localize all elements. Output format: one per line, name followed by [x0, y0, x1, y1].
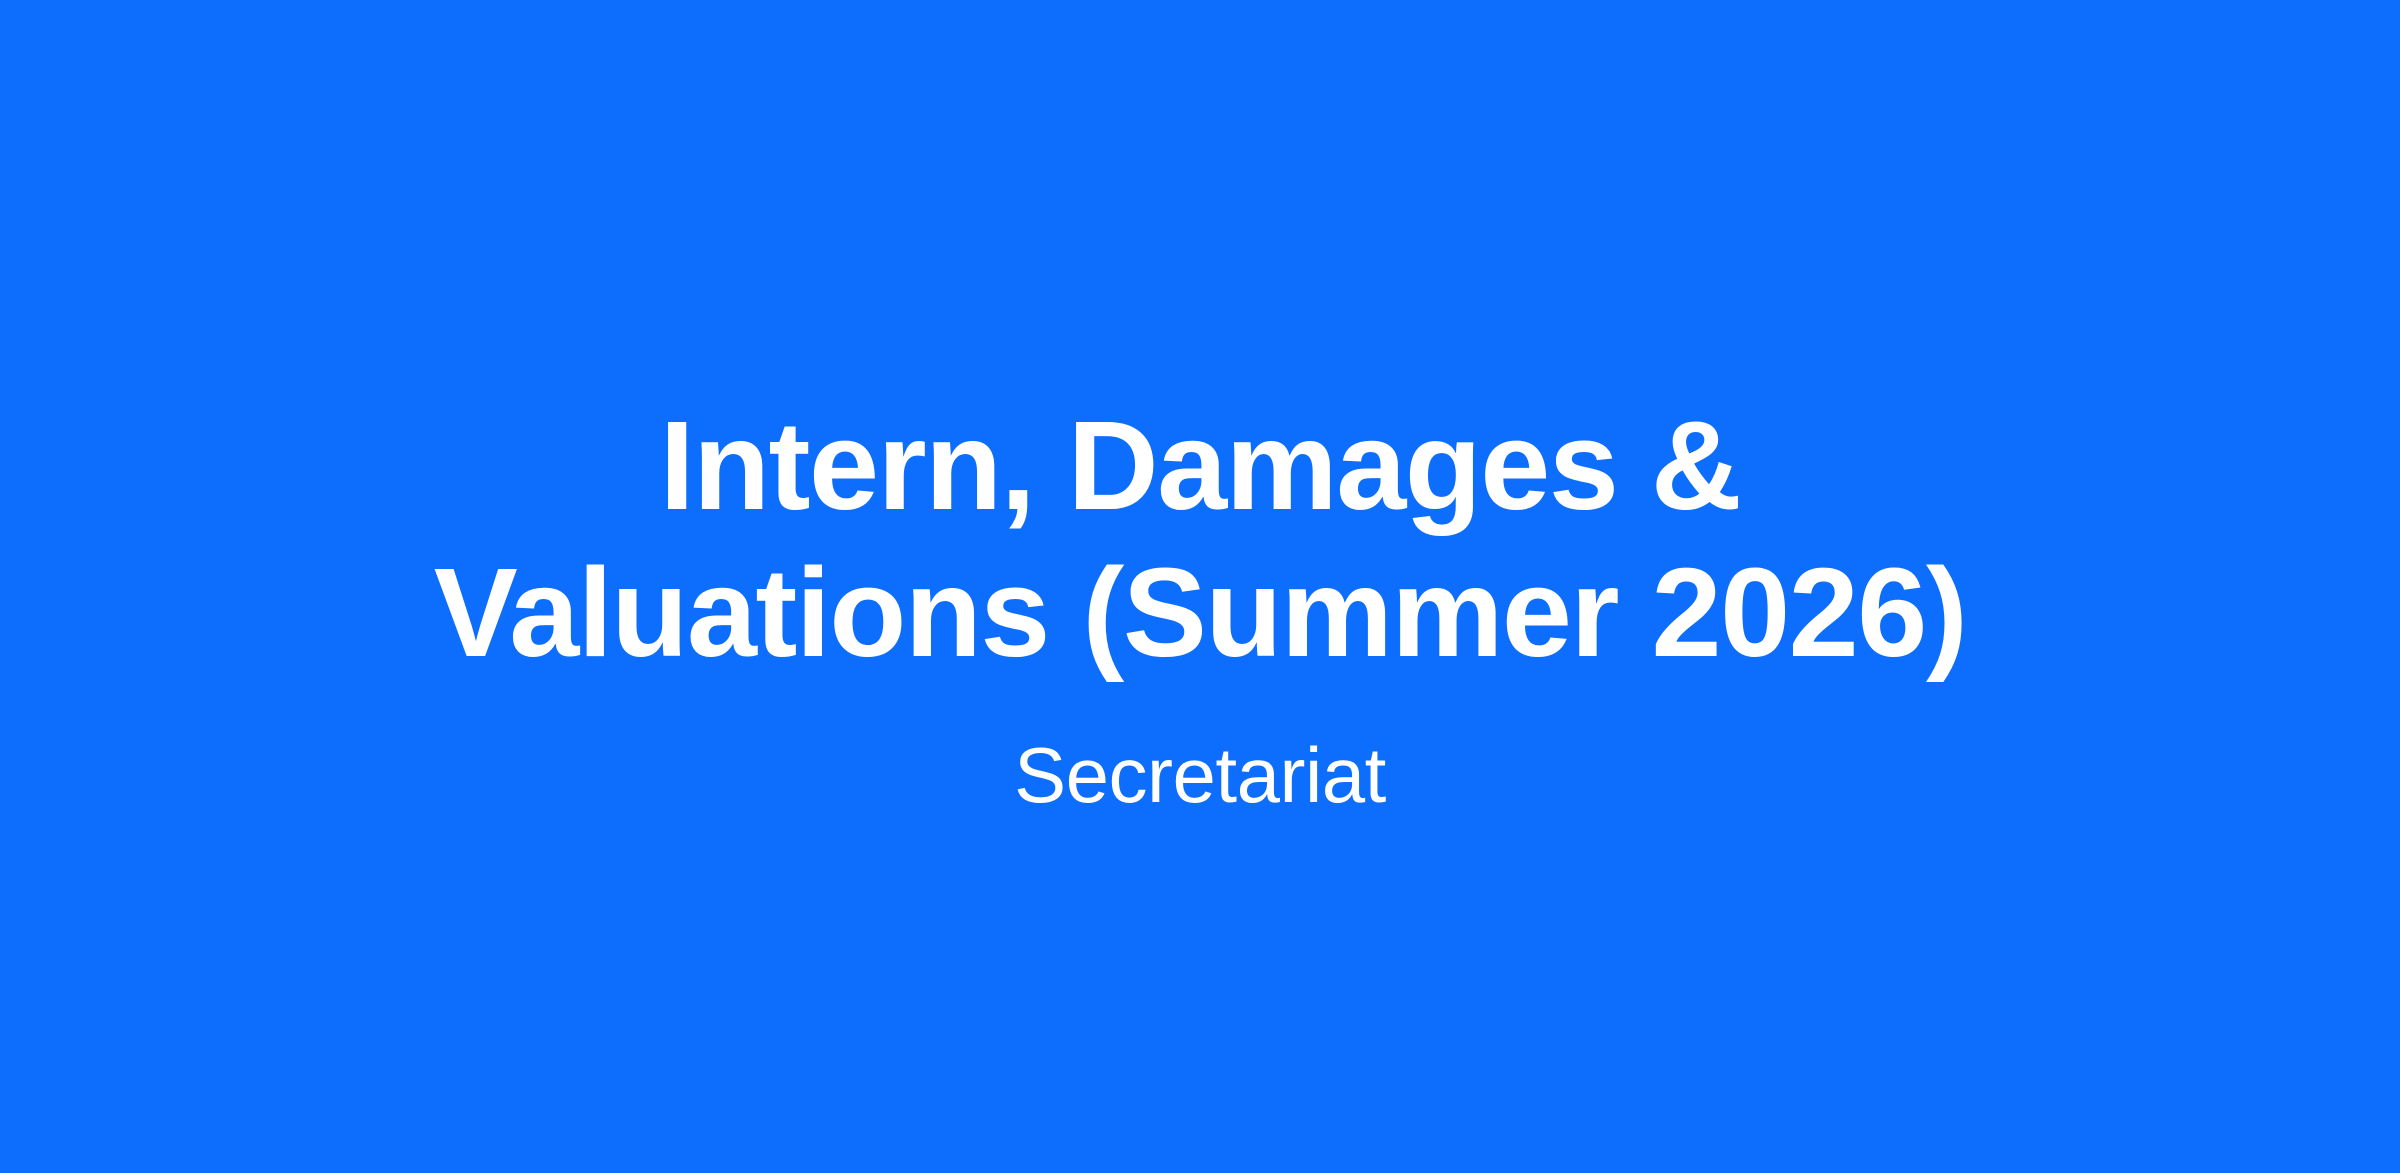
page-title: Intern, Damages & Valuations (Summer 202…	[380, 392, 2020, 686]
hero-content: Intern, Damages & Valuations (Summer 202…	[350, 392, 2050, 820]
hero-banner: Intern, Damages & Valuations (Summer 202…	[0, 0, 2400, 1173]
organization-name: Secretariat	[1014, 730, 1386, 820]
